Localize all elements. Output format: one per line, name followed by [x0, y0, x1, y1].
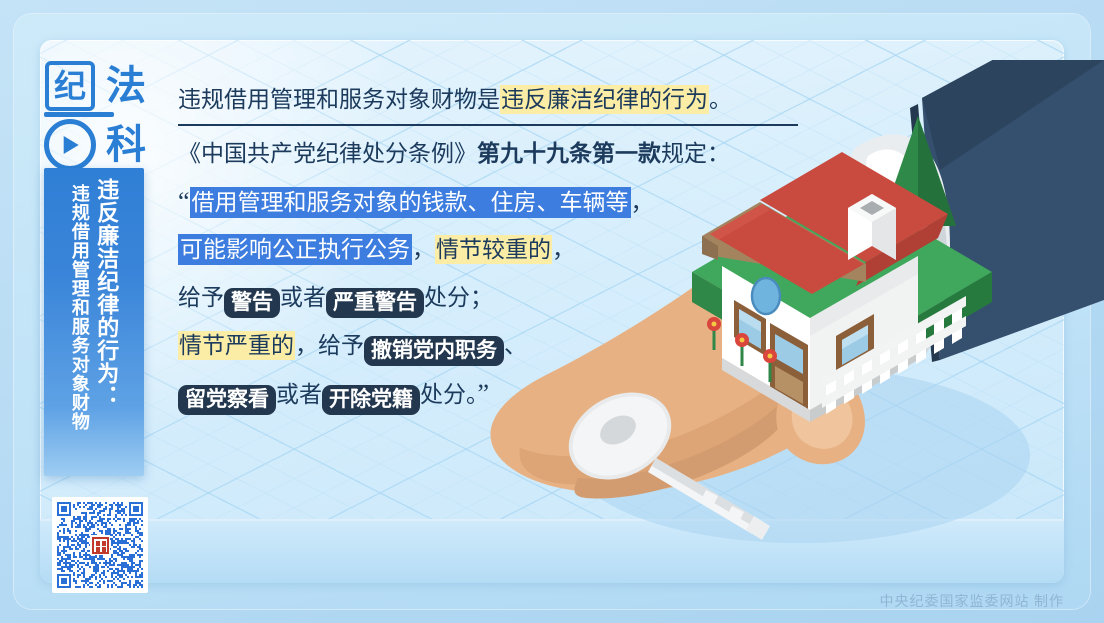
logo-cell-1: 纪 [42, 56, 98, 115]
penalty-pill-expulsion: 开除党籍 [322, 385, 420, 415]
logo-char-ke: 科 [106, 125, 146, 165]
banner-column-right: 违反廉洁纪律的行为： [95, 178, 118, 476]
logo-char-fa: 法 [106, 66, 146, 106]
footer-credit: 中央纪委国家监委网站 制作 [880, 591, 1065, 611]
vertical-title-banner: 违反廉洁纪律的行为： 违规借用管理和服务对象财物 [44, 168, 144, 476]
play-icon [64, 136, 79, 154]
penalty-pill-warning: 警告 [224, 288, 280, 318]
line5-pre: 给予 [178, 285, 224, 310]
brand-logo: 纪 法 科 [42, 56, 154, 174]
line5-mid: 或者 [280, 285, 326, 310]
line6-mid: ，给予 [295, 333, 364, 358]
line4-mid: ， [412, 237, 435, 262]
logo-cell-2: 法 [98, 56, 154, 115]
qr-code[interactable] [52, 497, 148, 593]
banner-column-left: 违规借用管理和服务对象财物 [70, 178, 89, 476]
logo-cell-4: 科 [98, 115, 154, 174]
penalty-pill-serious-warning: 严重警告 [326, 288, 424, 318]
penalty-pill-probation: 留党察看 [178, 385, 276, 415]
illustration-hand-house [470, 60, 1104, 580]
logo-char-ji: 纪 [54, 70, 86, 102]
line7-mid: 或者 [276, 382, 322, 407]
qr-center-seal-icon [90, 535, 110, 555]
poster-canvas: 纪 法 科 违反廉洁纪律的行为： 违规借用管理和服务对象财物 违规借 [0, 0, 1104, 623]
logo-underbar [44, 112, 114, 117]
line6-yellow-highlight: 情节严重的 [178, 331, 295, 360]
logo-char-bai-circle [44, 119, 96, 171]
line2-pre: 《中国共产党纪律处分条例》 [178, 141, 477, 166]
line7-post: 处分。 [420, 382, 478, 407]
line3-open-quote: “ [178, 187, 190, 216]
logo-cell-3 [42, 115, 98, 174]
line1-pre: 违规借用管理和服务对象财物是 [178, 87, 500, 112]
line4-blue-highlight: 可能影响公正执行公务 [178, 234, 412, 265]
